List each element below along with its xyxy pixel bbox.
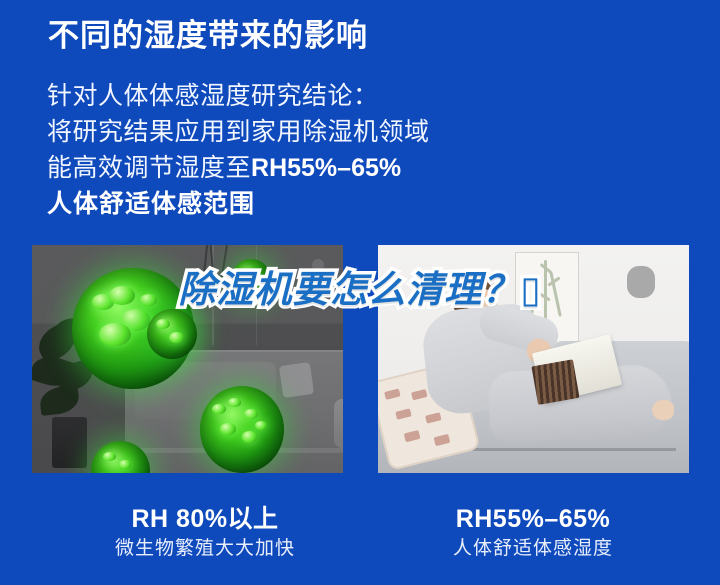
- bright-room-illustration: [378, 245, 689, 473]
- intro-line-3: 能高效调节湿度至RH55%–65%: [47, 150, 430, 186]
- photo-panel-comfort-humidity: [378, 245, 689, 473]
- humidity-range-highlight: RH55%–65%: [251, 154, 401, 182]
- intro-line-3-prefix: 能高效调节湿度至: [47, 154, 251, 182]
- intro-paragraph: 针对人体体感湿度研究结论： 将研究结果应用到家用除湿机领域 能高效调节湿度至RH…: [47, 78, 430, 222]
- photo-panel-high-humidity: [32, 245, 343, 473]
- intro-line-2: 将研究结果应用到家用除湿机领域: [47, 114, 430, 150]
- poster-canvas: 不同的湿度带来的影响 针对人体体感湿度研究结论： 将研究结果应用到家用除湿机领域…: [0, 0, 720, 585]
- caption-high-humidity: RH 80%以上 微生物繁殖大大加快: [40, 503, 370, 563]
- caption-left-subtitle: 微生物繁殖大大加快: [40, 535, 370, 563]
- caption-right-title: RH55%–65%: [368, 503, 698, 535]
- microbe-small-top: [231, 259, 271, 300]
- page-title: 不同的湿度带来的影响: [48, 16, 368, 56]
- dark-room-illustration: [32, 245, 343, 473]
- caption-comfort-humidity: RH55%–65% 人体舒适体感湿度: [368, 503, 698, 563]
- person-foot: [652, 400, 673, 420]
- person-reading: [409, 263, 676, 464]
- microbe-bottom-right: [200, 386, 284, 473]
- intro-line-1: 针对人体体感湿度研究结论：: [47, 78, 430, 114]
- caption-right-subtitle: 人体舒适体感湿度: [368, 535, 698, 563]
- caption-left-title: RH 80%以上: [40, 503, 370, 535]
- microbe-medium: [147, 309, 197, 359]
- intro-line-4: 人体舒适体感范围: [47, 186, 430, 222]
